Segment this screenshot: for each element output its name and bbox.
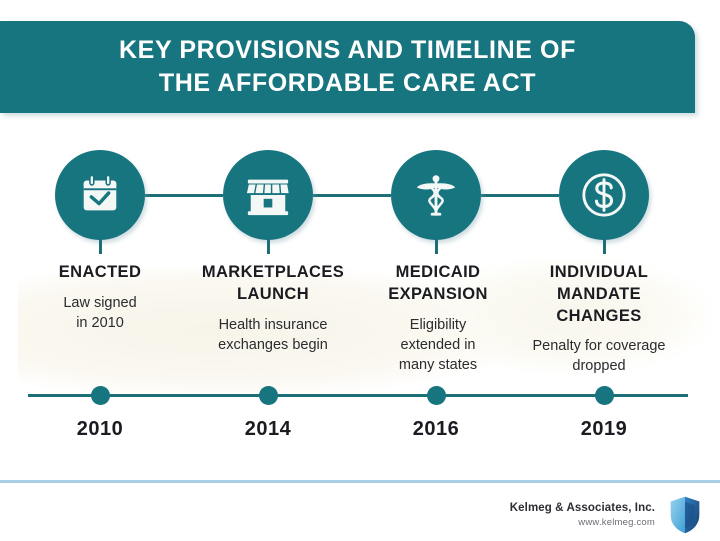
milestone-node-4[interactable] xyxy=(559,150,649,240)
milestone-column-1: ENACTED Law signed in 2010 xyxy=(20,262,180,333)
timeline-axis xyxy=(28,394,688,397)
caduceus-icon xyxy=(391,150,481,240)
footer-website-url[interactable]: www.kelmeg.com xyxy=(510,516,655,530)
icon-stem-2 xyxy=(267,238,270,254)
connector-segment-1 xyxy=(145,194,223,197)
milestone-node-3[interactable] xyxy=(391,150,481,240)
icon-stem-3 xyxy=(435,238,438,254)
infographic-page: KEY PROVISIONS AND TIMELINE OF THE AFFOR… xyxy=(0,0,720,541)
connector-segment-2 xyxy=(313,194,391,197)
connector-segment-3 xyxy=(481,194,559,197)
shield-logo xyxy=(668,495,702,535)
footer-company-name: Kelmeg & Associates, Inc. xyxy=(510,500,655,517)
milestone-icon-row xyxy=(0,150,720,240)
milestone-title-4: INDIVIDUAL MANDATE CHANGES xyxy=(504,262,694,327)
milestone-description-3: Eligibility extended in many states xyxy=(358,315,518,375)
milestone-description-4: Penalty for coverage dropped xyxy=(504,336,694,376)
timeline-dot-2010[interactable] xyxy=(91,386,110,405)
milestone-title-1: ENACTED xyxy=(20,262,180,284)
milestone-node-2[interactable] xyxy=(223,150,313,240)
milestone-column-2: MARKETPLACES LAUNCH Health insurance exc… xyxy=(183,262,363,355)
footer-divider xyxy=(0,480,720,483)
milestone-node-1[interactable] xyxy=(55,150,145,240)
header-banner: KEY PROVISIONS AND TIMELINE OF THE AFFOR… xyxy=(0,21,695,113)
footer: Kelmeg & Associates, Inc. www.kelmeg.com xyxy=(510,495,702,535)
milestone-description-2: Health insurance exchanges begin xyxy=(183,315,363,355)
milestone-column-4: INDIVIDUAL MANDATE CHANGES Penalty for c… xyxy=(504,262,694,376)
storefront-icon xyxy=(223,150,313,240)
calendar-check-icon xyxy=(55,150,145,240)
timeline-year-2016: 2016 xyxy=(376,418,496,441)
page-title-line-1: KEY PROVISIONS AND TIMELINE OF xyxy=(119,34,576,67)
milestone-title-3: MEDICAID EXPANSION xyxy=(358,262,518,306)
timeline-dot-2014[interactable] xyxy=(259,386,278,405)
icon-stem-4 xyxy=(603,238,606,254)
icon-stem-1 xyxy=(99,238,102,254)
milestone-column-3: MEDICAID EXPANSION Eligibility extended … xyxy=(358,262,518,375)
timeline-year-2014: 2014 xyxy=(208,418,328,441)
page-title-line-2: THE AFFORDABLE CARE ACT xyxy=(159,67,536,100)
footer-text-block: Kelmeg & Associates, Inc. www.kelmeg.com xyxy=(510,500,655,531)
milestone-title-2: MARKETPLACES LAUNCH xyxy=(183,262,363,306)
timeline-year-2019: 2019 xyxy=(544,418,664,441)
timeline-year-2010: 2010 xyxy=(40,418,160,441)
milestone-description-1: Law signed in 2010 xyxy=(20,293,180,333)
timeline-dot-2019[interactable] xyxy=(595,386,614,405)
timeline-dot-2016[interactable] xyxy=(427,386,446,405)
dollar-circle-icon xyxy=(559,150,649,240)
